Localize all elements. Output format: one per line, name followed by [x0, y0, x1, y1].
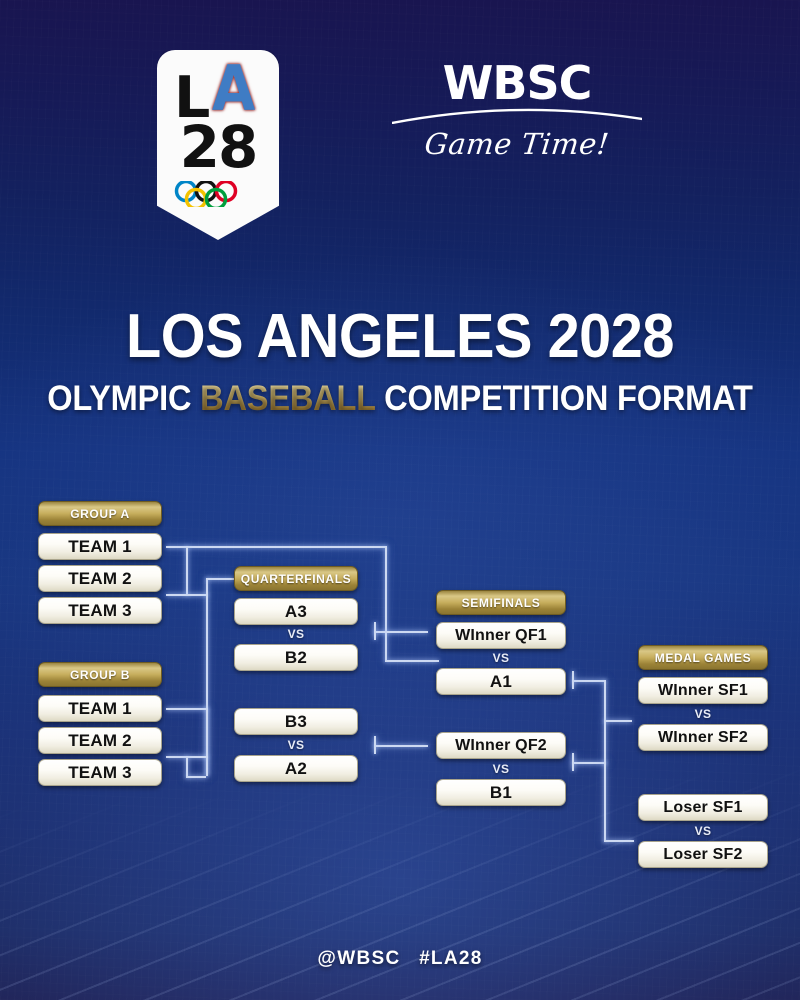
quarterfinals-header: QUARTERFINALS: [234, 566, 358, 591]
connector-sf2-tick: [572, 753, 574, 771]
group-b-team-2[interactable]: TEAM 2: [38, 727, 162, 754]
group-b-team-1[interactable]: TEAM 1: [38, 695, 162, 722]
group-a-team-3[interactable]: TEAM 3: [38, 597, 162, 624]
connector-group-a-vertical: [186, 546, 188, 596]
footer-handle[interactable]: @WBSC: [317, 948, 400, 969]
connector-group-b-top: [166, 708, 208, 710]
gold-medal-game-vs-label: VS: [638, 707, 768, 721]
poster-footer: @WBSC #LA28: [0, 948, 800, 970]
gold-medal-game-team-top[interactable]: WInner SF1: [638, 677, 768, 704]
connector-qf1-to-sf1: [374, 631, 428, 633]
semifinal-2-vs-label: VS: [436, 762, 566, 776]
semifinal-1-team-bottom[interactable]: A1: [436, 668, 566, 695]
group-b-header: GROUP B: [38, 662, 162, 687]
bronze-medal-game-team-bottom[interactable]: Loser SF2: [638, 841, 768, 868]
connector-a1-vertical: [385, 546, 387, 661]
group-a-team-1[interactable]: TEAM 1: [38, 533, 162, 560]
poster-canvas: L A 28 WBSC Game Time! LOS ANGEL: [0, 0, 800, 1000]
group-b-team-3[interactable]: TEAM 3: [38, 759, 162, 786]
bronze-medal-game-vs-label: VS: [638, 824, 768, 838]
competition-bracket: GROUP A TEAM 1 TEAM 2 TEAM 3 GROUP B TEA…: [0, 0, 800, 1000]
gold-medal-game-team-bottom[interactable]: WInner SF2: [638, 724, 768, 751]
connector-group-b-foot: [186, 776, 206, 778]
semifinal-2-team-top[interactable]: WInner QF2: [436, 732, 566, 759]
connector-sf2-out: [572, 762, 606, 764]
connector-a1-into-semifinal: [385, 660, 439, 662]
connector-medal-gold-in: [604, 720, 632, 722]
group-a-team-2[interactable]: TEAM 2: [38, 565, 162, 592]
medal-games-header: MEDAL GAMES: [638, 645, 768, 670]
connector-qf1-tick: [374, 622, 376, 640]
semifinals-header: SEMIFINALS: [436, 590, 566, 615]
quarterfinal-1-team-top[interactable]: A3: [234, 598, 358, 625]
footer-hashtag[interactable]: #LA28: [419, 948, 483, 969]
quarterfinal-2-team-top[interactable]: B3: [234, 708, 358, 735]
quarterfinal-2-team-bottom[interactable]: A2: [234, 755, 358, 782]
connector-sf1-out: [572, 680, 606, 682]
semifinal-1-team-top[interactable]: WInner QF1: [436, 622, 566, 649]
quarterfinal-1-vs-label: VS: [234, 627, 358, 641]
semifinal-1-vs-label: VS: [436, 651, 566, 665]
connector-a1-horizontal: [166, 546, 387, 548]
connector-bronze-spine: [604, 762, 606, 842]
quarterfinal-1-team-bottom[interactable]: B2: [234, 644, 358, 671]
semifinal-2-team-bottom[interactable]: B1: [436, 779, 566, 806]
connector-qf2-to-sf2: [374, 745, 428, 747]
connector-medal-spine: [604, 680, 606, 764]
quarterfinal-2-vs-label: VS: [234, 738, 358, 752]
connector-medal-bronze-in: [604, 840, 634, 842]
connector-group-b-tick: [186, 756, 188, 778]
bronze-medal-game-team-top[interactable]: Loser SF1: [638, 794, 768, 821]
connector-sf1-tick: [572, 671, 574, 689]
connector-group-b-vertical: [206, 708, 208, 776]
connector-group-a-to-qf: [206, 578, 236, 580]
connector-group-a-tick: [166, 594, 208, 596]
group-a-header: GROUP A: [38, 501, 162, 526]
connector-qf2-tick: [374, 736, 376, 754]
